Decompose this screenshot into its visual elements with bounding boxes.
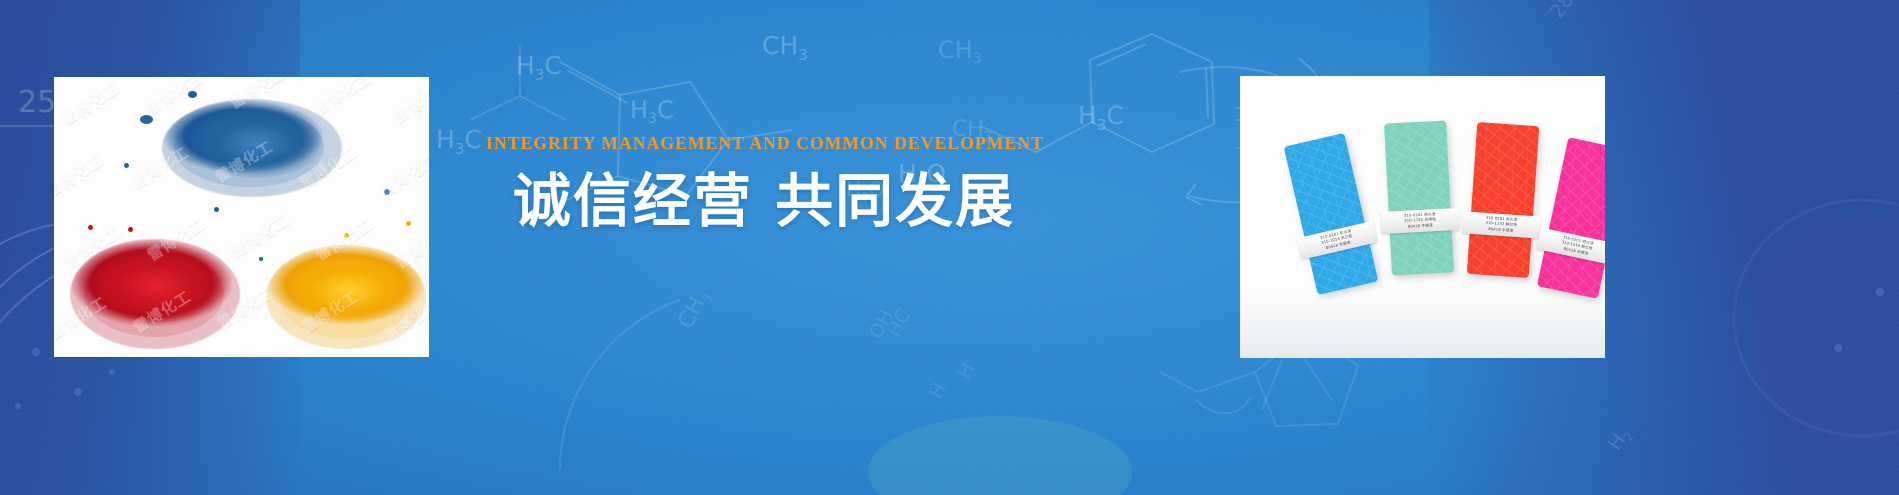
sample-card-blue: 310-0201 防火漆 310-1013 天兰色 80418 手感漆 [1284,133,1379,295]
watermark-text: 雷博化工 [54,292,111,344]
watermark-text: 雷博化工 [391,222,429,274]
watermark-text: 雷博化工 [295,142,360,194]
card-texture [1284,133,1379,295]
sample-card-green: 310-0201 防火漆 310-1733 灰绿色 80418 手感漆 [1384,120,1454,275]
banner-copy: INTEGRITY MANAGEMENT AND COMMON DEVELOPM… [486,133,1042,233]
watermark-text: 雷博化工 [213,282,278,334]
banner-subtitle-en: INTEGRITY MANAGEMENT AND COMMON DEVELOPM… [486,133,1042,154]
photo-watermark-layer: 雷博化工 雷博化工 雷博化工 雷博化工 雷博化工 雷博化工 雷博化工 雷博化工 … [54,77,429,357]
card-texture [1467,122,1539,278]
watermark-text: 雷博化工 [141,77,206,119]
watermark-text: 雷博化工 [129,286,194,338]
promo-banner: 250 H3C H3C H3C CH3 CH3 H2O H3O CH3 H3C … [0,0,1899,495]
watermark-text: 雷博化工 [225,77,290,113]
card-texture [1384,120,1454,275]
sample-card-pink: 310-0201 防火漆 310-1016 桃红色 80418 手感漆 [1537,137,1605,299]
watermark-text: 雷博化工 [57,78,122,130]
watermark-text: 雷博化工 [309,77,374,119]
watermark-text: 雷博化工 [379,294,429,346]
watermark-text: 雷博化工 [227,210,292,262]
watermark-text: 雷博化工 [59,222,124,274]
photo-surface-shadow [1240,288,1605,358]
card-label-band: 310-0201 防火漆 310-1733 灰绿色 80418 手感漆 [1381,208,1460,234]
watermark-text: 雷博化工 [375,150,429,202]
watermark-text: 雷博化工 [311,214,376,266]
banner-headline-cn: 诚信经营 共同发展 [486,170,1042,233]
product-photo-pigment-powders: 雷博化工 雷博化工 雷博化工 雷博化工 雷博化工 雷博化工 雷博化工 雷博化工 … [54,77,429,357]
watermark-text: 雷博化工 [389,77,429,127]
watermark-text: 雷博化工 [127,142,192,194]
watermark-text: 雷博化工 [297,286,362,338]
sample-card-red: 310-0201 防火漆 310-1132 鲜红色 80418 手感漆 [1467,122,1539,278]
product-photo-color-cards: 310-0201 防火漆 310-1013 天兰色 80418 手感漆 310-… [1240,76,1605,358]
card-texture [1537,137,1605,299]
watermark-text: 雷博化工 [143,214,208,266]
watermark-text: 雷博化工 [211,136,276,188]
watermark-text: 雷博化工 [54,150,107,202]
